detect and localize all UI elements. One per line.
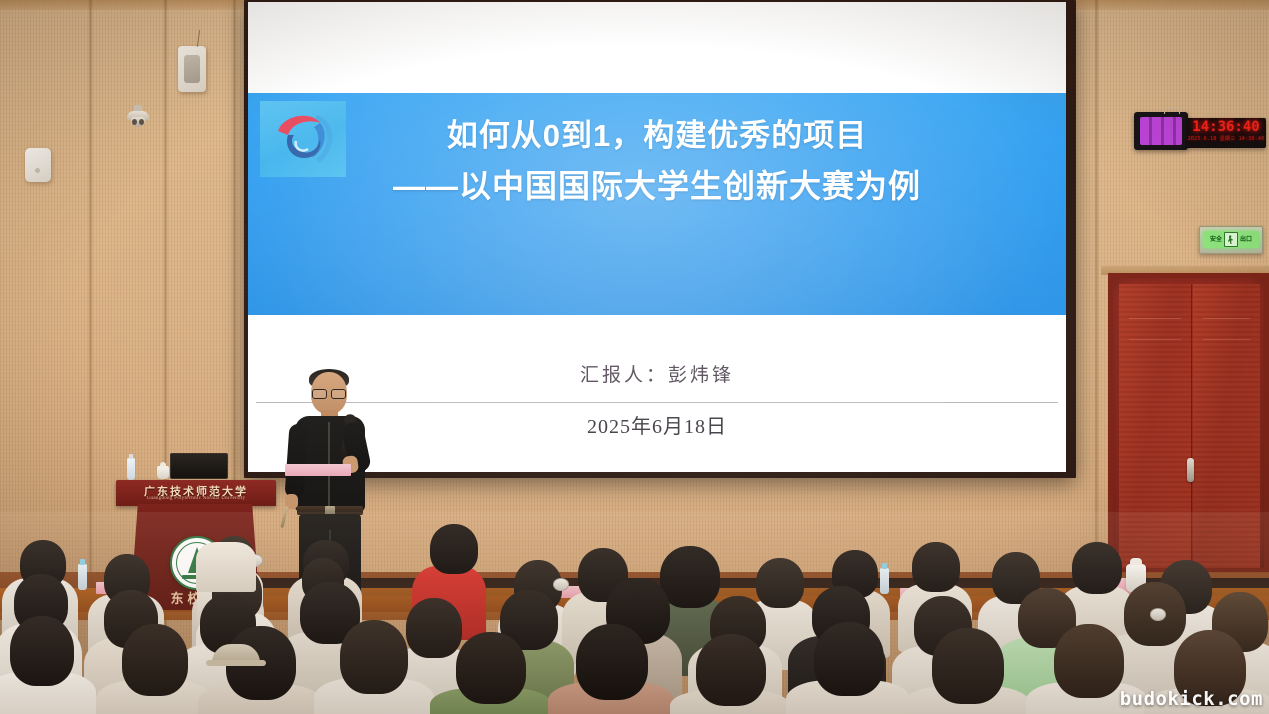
- audience-member: [340, 620, 408, 694]
- hair-tie: [553, 578, 569, 591]
- clock-date-line: 2025.6.18 星期三 14:36:40: [1186, 135, 1266, 142]
- exit-sign-right-text: 出口: [1240, 237, 1252, 243]
- watermark: budokick.com: [1120, 688, 1263, 710]
- clock-time: 14:36:40: [1186, 119, 1266, 135]
- audience-member: [406, 598, 462, 658]
- door-handle[interactable]: [1187, 458, 1194, 482]
- audience-area: [0, 512, 1269, 714]
- audience-member: [576, 624, 648, 700]
- led-clock-display: 14:36:40 2025.6.18 星期三 14:36:40: [1186, 118, 1266, 148]
- hair-tie: [1150, 608, 1166, 621]
- screenshot-root: 如何从0到1，构建优秀的项目 ——以中国国际大学生创新大赛为例 汇报人：彭炜锋 …: [0, 0, 1269, 714]
- running-person-exit-icon: [1224, 232, 1238, 247]
- slide-title-band: 如何从0到1，构建优秀的项目 ——以中国国际大学生创新大赛为例: [248, 93, 1066, 315]
- audience-member: [814, 622, 884, 696]
- audience-member: [122, 624, 188, 696]
- ceiling-camera-icon: [127, 105, 149, 129]
- audience-member: [456, 632, 526, 704]
- slide-title-line2: ——以中国国际大学生创新大赛为例: [248, 161, 1066, 213]
- wall-sensor: [25, 148, 51, 182]
- audience-member: [756, 558, 804, 608]
- clock-housing: [1134, 112, 1188, 150]
- podium-papers: [285, 464, 351, 476]
- audience-member: [912, 542, 960, 592]
- slide-title-group: 如何从0到1，构建优秀的项目 ——以中国国际大学生创新大赛为例: [248, 111, 1066, 213]
- audience-member: [1072, 542, 1122, 594]
- audience-member: [1054, 624, 1124, 698]
- slide-title-line1: 如何从0到1，构建优秀的项目: [248, 111, 1066, 161]
- audience-member: [932, 628, 1004, 704]
- beige-cap: [212, 644, 260, 666]
- exit-sign-left-text: 安全: [1210, 237, 1222, 243]
- university-name-en: Guangdong Polytechnic Normal University: [116, 496, 276, 501]
- audience-member: [696, 634, 766, 706]
- eyeglasses-icon: [312, 389, 346, 397]
- water-bottle: [78, 564, 87, 590]
- wall-clock-unit: 14:36:40 2025.6.18 星期三 14:36:40: [1134, 112, 1266, 152]
- audience-member: [10, 616, 74, 686]
- audience-member: [196, 542, 256, 592]
- audience-member: [430, 524, 478, 574]
- emergency-exit-sign: 安全 出口: [1199, 226, 1263, 254]
- wall-speaker-box: [178, 46, 206, 92]
- audience-member: [660, 546, 720, 608]
- water-bottle: [880, 568, 889, 594]
